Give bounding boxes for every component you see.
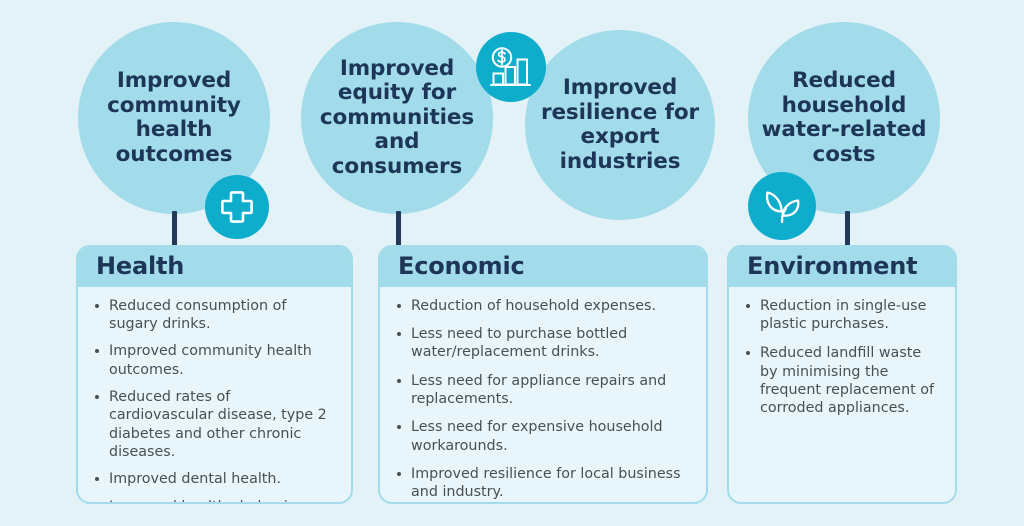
list-item: Improved healthy behaviours. [92,498,337,504]
card-body-economic: Reduction of household expenses. Less ne… [380,287,706,504]
bullet-list-economic: Reduction of household expenses. Less ne… [394,297,692,504]
outcome-circle-equity: Improved equity for communities and cons… [301,22,493,214]
outcome-circle-equity-label: Improved equity for communities and cons… [301,57,493,180]
outcome-circle-export-label: Improved resilience for export industrie… [525,76,715,174]
list-item: Reduced rates of cardiovascular disease,… [92,388,337,461]
card-header-environment: Environment [729,247,955,287]
leaf-plant-icon [748,172,816,240]
infographic-canvas: Improved community health outcomes Impro… [0,0,1024,526]
connector-stem-economic [396,211,401,248]
outcome-circle-export: Improved resilience for export industrie… [525,30,715,220]
category-card-environment: Environment Reduction in single-use plas… [727,245,957,504]
outcome-circle-water-label: Reduced household water-related costs [748,69,940,167]
list-item: Less need for appliance repairs and repl… [394,372,692,409]
list-item: Improved community health outcomes. [92,342,337,379]
connector-stem-health [172,211,177,248]
dollar-bar-chart-icon [476,32,546,102]
medical-cross-icon [205,175,269,239]
list-item: Less need for expensive household workar… [394,418,692,455]
category-card-health: Health Reduced consumption of sugary dri… [76,245,353,504]
card-header-economic: Economic [380,247,706,287]
card-title-economic: Economic [398,253,706,280]
list-item: Reduction of household expenses. [394,297,692,315]
outcome-circle-health-label: Improved community health outcomes [78,69,270,167]
list-item: Reduction in single-use plastic purchase… [743,297,941,334]
card-title-environment: Environment [747,253,955,280]
list-item: Less need to purchase bottled water/repl… [394,325,692,362]
category-card-economic: Economic Reduction of household expenses… [378,245,708,504]
card-body-health: Reduced consumption of sugary drinks. Im… [78,287,351,504]
card-title-health: Health [96,253,351,280]
list-item: Reduced landfill waste by minimising the… [743,344,941,417]
list-item: Reduced consumption of sugary drinks. [92,297,337,334]
card-body-environment: Reduction in single-use plastic purchase… [729,287,955,437]
card-header-health: Health [78,247,351,287]
list-item: Improved dental health. [92,470,337,488]
bullet-list-environment: Reduction in single-use plastic purchase… [743,297,941,418]
bullet-list-health: Reduced consumption of sugary drinks. Im… [92,297,337,504]
connector-stem-environment [845,211,850,248]
list-item: Improved resilience for local business a… [394,465,692,502]
